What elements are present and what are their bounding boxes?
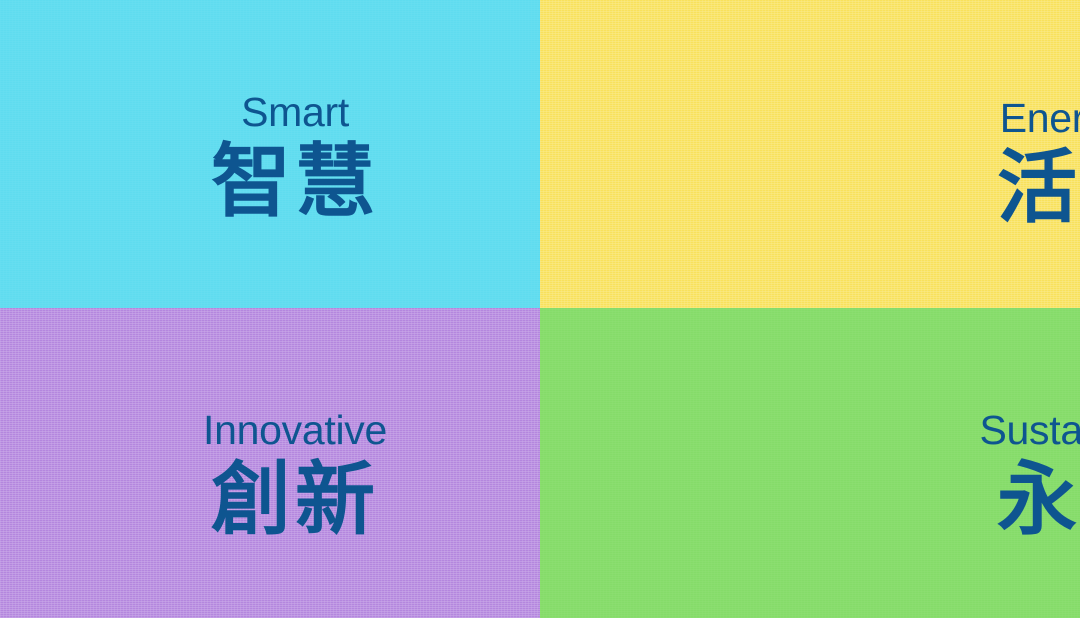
panel-label-en-smart: Smart xyxy=(25,92,540,133)
panel-content-energetic: Energetic 活力 xyxy=(815,98,1080,231)
panel-label-cjk-energetic: 活力 xyxy=(815,145,1080,231)
panel-innovative[interactable]: Innovative 創新 xyxy=(0,308,540,618)
panel-content-sustainable: Sustainable 永續 xyxy=(815,410,1080,543)
panel-label-cjk-sustainable: 永續 xyxy=(815,457,1080,543)
panel-label-en-innovative: Innovative xyxy=(25,410,540,451)
panel-smart[interactable]: Smart 智慧 xyxy=(0,0,540,308)
panel-content-innovative: Innovative 創新 xyxy=(25,410,540,543)
panel-label-en-sustainable: Sustainable xyxy=(815,410,1080,451)
panel-label-en-energetic: Energetic xyxy=(815,98,1080,139)
panel-label-cjk-smart: 智慧 xyxy=(25,139,540,225)
quadrant-grid: Smart 智慧 Energetic 活力 Innovative 創新 Sust… xyxy=(0,0,1080,618)
panel-content-smart: Smart 智慧 xyxy=(25,92,540,225)
panel-sustainable[interactable]: Sustainable 永續 xyxy=(540,308,1080,618)
panel-label-cjk-innovative: 創新 xyxy=(25,457,540,543)
panel-energetic[interactable]: Energetic 活力 xyxy=(540,0,1080,308)
brand-values-graphic: Smart 智慧 Energetic 活力 Innovative 創新 Sust… xyxy=(0,0,1080,618)
